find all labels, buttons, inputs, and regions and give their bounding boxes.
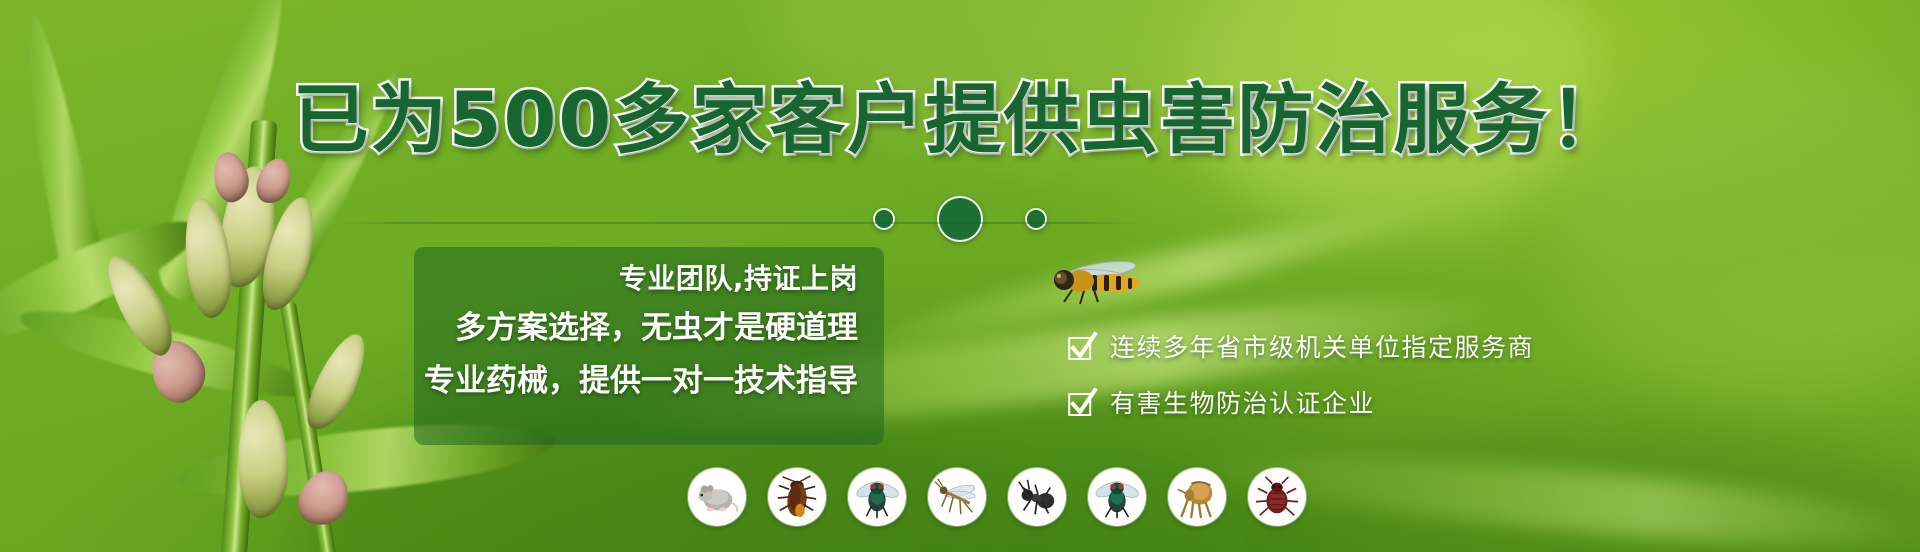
grass-blade [8,12,113,315]
dot-large-center [937,196,983,242]
certification-label: 有害生物防治认证企业 [1110,391,1375,416]
page-title-text: 已为500多家客户提供虫害防治服务！ [293,75,1628,164]
fly-icon[interactable] [848,468,906,526]
list-item: 连续多年省市级机关单位指定服务商 [1068,333,1534,361]
mosquito-icon[interactable] [928,468,986,526]
cockroach-icon[interactable] [768,468,826,526]
decorative-dots [0,196,1920,242]
list-item: 有害生物防治认证企业 [1068,389,1534,417]
promo-banner: 已为500多家客户提供虫害防治服务！ 专业团队,持证上岗 多方案选择，无虫才是硬… [0,0,1920,552]
pest-type-icons [688,468,1306,526]
blowfly-icon[interactable] [1088,468,1146,526]
claim-line-1: 专业团队,持证上岗 [619,261,858,297]
certification-label: 连续多年省市级机关单位指定服务商 [1110,335,1534,360]
dot-small-right [1025,208,1047,230]
plant-bud [235,399,291,519]
certification-list: 连续多年省市级机关单位指定服务商 有害生物防治认证企业 [1068,333,1534,417]
page-title: 已为500多家客户提供虫害防治服务！ [0,82,1920,158]
claim-line-3: 专业药械，提供一对一技术指导 [424,359,858,403]
background-bokeh [1300,420,1920,552]
plant-bud [141,332,215,411]
hoverfly-icon [1040,252,1160,312]
claim-line-2: 多方案选择，无虫才是硬道理 [455,306,858,350]
plant-bud [298,327,375,437]
ant-icon[interactable] [1008,468,1066,526]
plant-bud [292,463,356,532]
claims-panel: 专业团队,持证上岗 多方案选择，无虫才是硬道理 专业药械，提供一对一技术指导 [414,247,884,445]
checkbox-check-icon [1068,389,1096,417]
plant-stem [280,300,336,552]
checkbox-check-icon [1068,333,1096,361]
bedbug-icon[interactable] [1248,468,1306,526]
dot-small-left [873,208,895,230]
plant-stem [221,120,278,552]
rodent-icon[interactable] [688,468,746,526]
flea-icon[interactable] [1168,468,1226,526]
plant-bud [95,247,185,362]
grass-blade [14,295,316,412]
divider-hairline [340,222,1140,224]
